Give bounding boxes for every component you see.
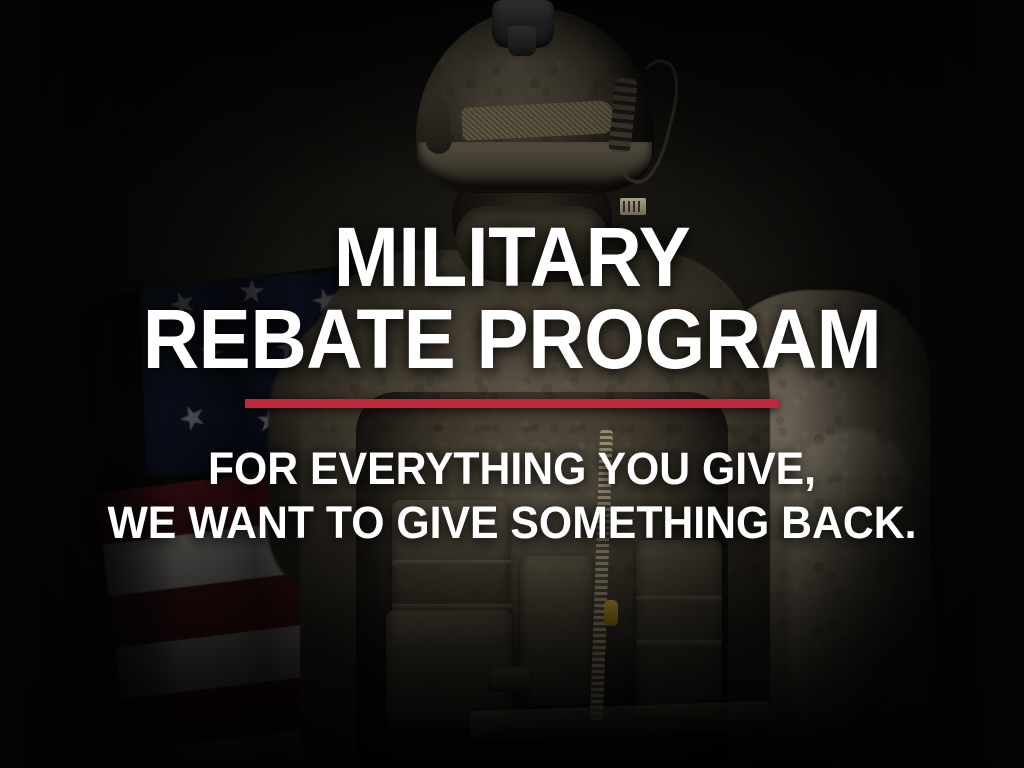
subheadline-line-1: FOR EVERYTHING YOU GIVE,	[26, 446, 999, 492]
red-divider-rule	[245, 399, 779, 408]
text-overlay: MILITARY REBATE PROGRAM FOR EVERYTHING Y…	[0, 0, 1024, 768]
headline-line-1: MILITARY	[36, 216, 988, 298]
military-rebate-poster: MILITARY REBATE PROGRAM FOR EVERYTHING Y…	[0, 0, 1024, 768]
headline-line-2: REBATE PROGRAM	[36, 298, 988, 380]
subheadline-line-2: WE WANT TO GIVE SOMETHING BACK.	[26, 500, 999, 546]
